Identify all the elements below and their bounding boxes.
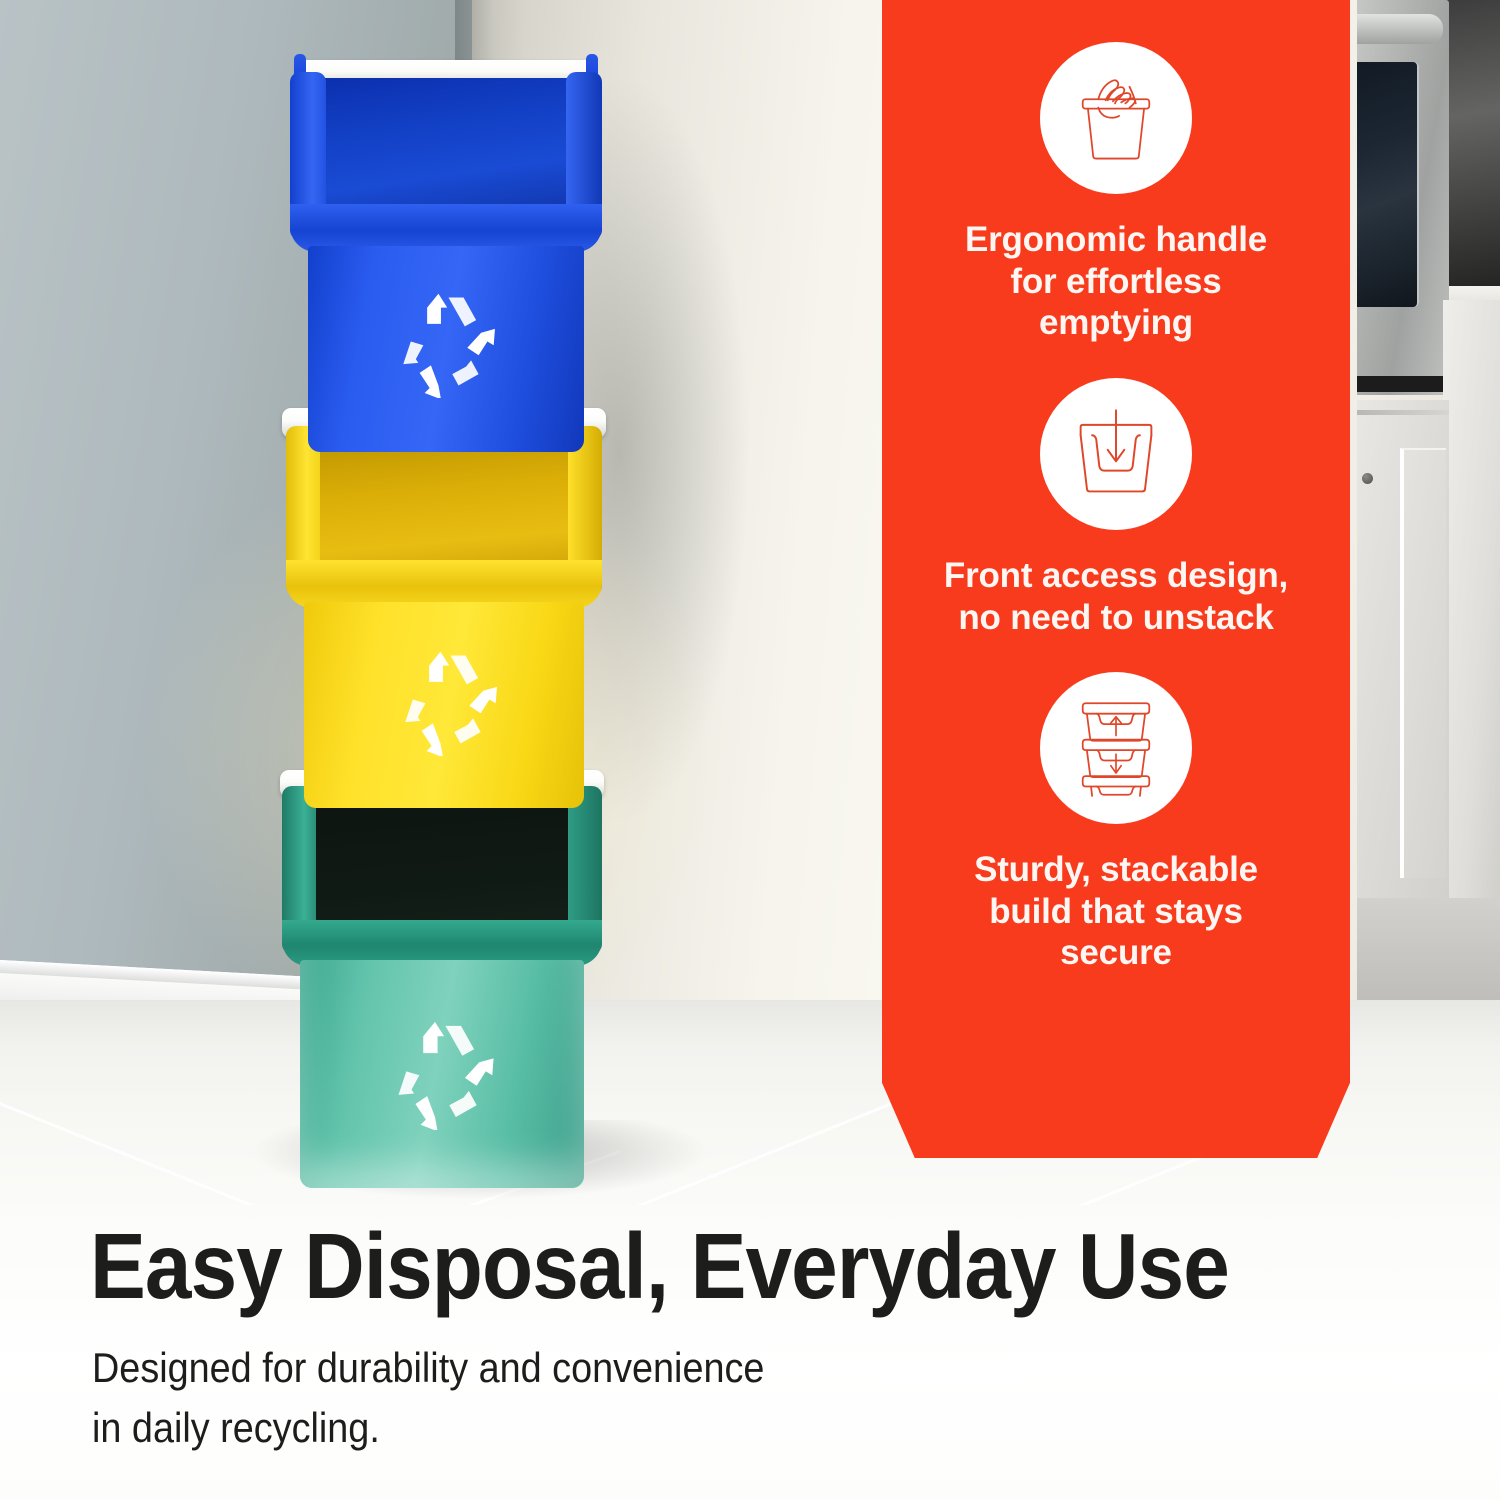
bin-blue [290,52,602,452]
feature-item-stackable: Sturdy, stackable build that stays secur… [908,672,1324,974]
feature-label: Sturdy, stackable build that stays secur… [974,849,1258,974]
hand-gripping-bin-handle-icon [1040,42,1192,194]
feature-panel: Ergonomic handle for effortless emptying… [882,0,1350,1158]
cabinet-door-rail [1357,410,1449,415]
oven-bottom-gap [1357,376,1449,392]
cabinet-side-panel [1443,300,1500,1000]
page-headline: Easy Disposal, Everyday Use [90,1218,1278,1316]
bin-blue-front-lip [290,204,602,252]
arrow-into-bin-front-access-icon [1040,378,1192,530]
bin-yellow [286,408,602,808]
recycle-icon [390,648,516,756]
bin-yellow-front-lip [286,560,602,608]
recycle-icon [388,290,514,398]
cabinet-knob [1362,473,1373,484]
cabinet-door-panel [1400,448,1446,878]
feature-item-front-access: Front access design, no need to unstack [908,378,1324,638]
page-subtitle: Designed for durability and convenience … [92,1338,1082,1457]
feature-label: Front access design, no need to unstack [944,555,1288,638]
feature-item-ergonomic-handle: Ergonomic handle for effortless emptying [908,42,1324,344]
recycle-icon [382,1018,514,1130]
oven-handle [1357,14,1443,44]
bin-green [282,770,602,1190]
cabinet-toe-kick [1357,898,1500,1008]
oven-door-glass [1357,62,1419,307]
feature-label: Ergonomic handle for effortless emptying [965,219,1267,344]
stacked-bins-arrows-icon [1040,672,1192,824]
